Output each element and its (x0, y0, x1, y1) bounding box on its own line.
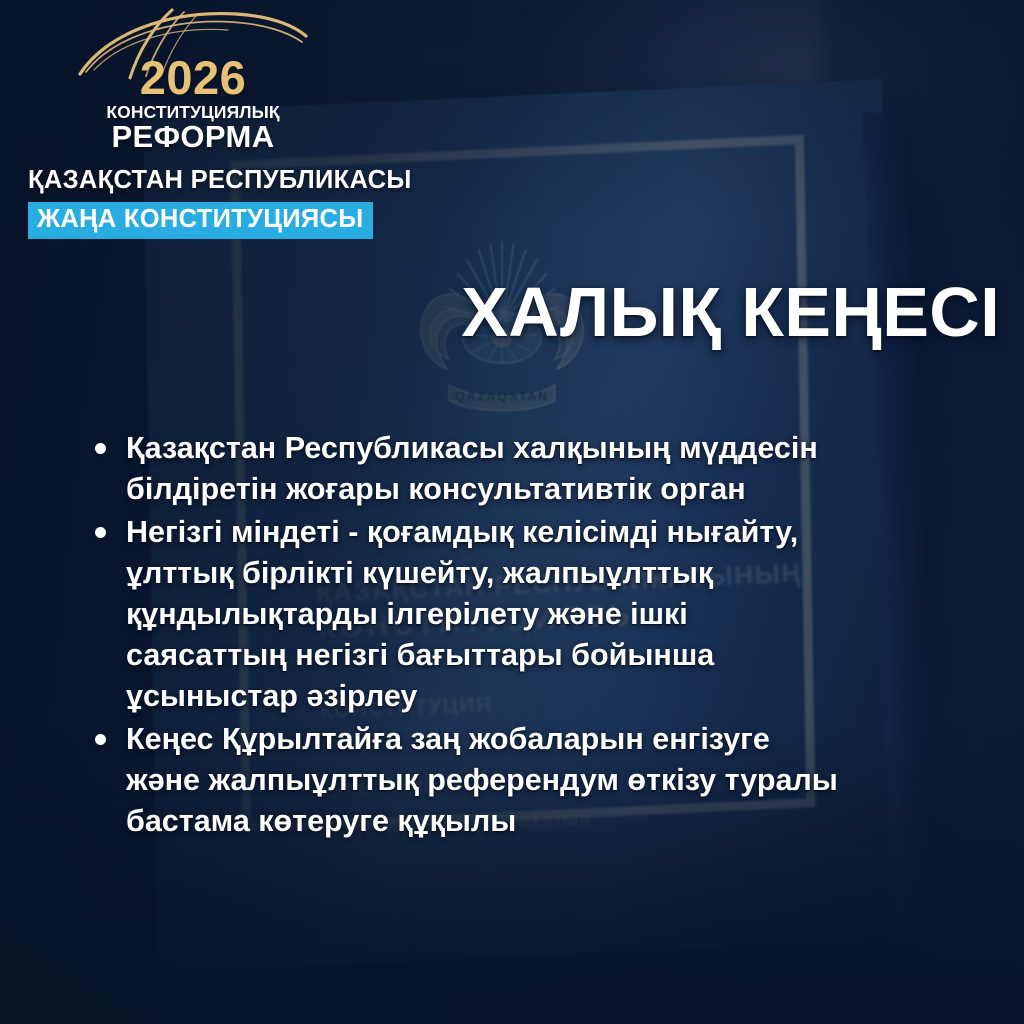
bullet-list: Қазақстан Республикасы халқының мүддесін… (84, 428, 844, 844)
list-item: Қазақстан Республикасы халқының мүддесін… (84, 428, 844, 510)
page-title: ХАЛЫҚ КЕҢЕСІ (461, 277, 1000, 347)
infographic-canvas: QAZAQSTAN ҚАЗАҚСТАН РЕСПУБЛИКАСЫНЫҢ КОНС… (0, 0, 1024, 1024)
list-item: Негізгі міндеті - қоғамдық келісімді нығ… (84, 512, 844, 717)
kicker-heading: ҚАЗАҚСТАН РЕСПУБЛИКАСЫ (28, 168, 412, 194)
kicker-heading-highlighted: ЖАҢА КОНСТИТУЦИЯСЫ (28, 202, 373, 239)
logo-year: 2026 (78, 54, 308, 101)
logo-subtitle-line2: РЕФОРМА (78, 121, 308, 152)
list-item: Кеңес Құрылтайға заң жобаларын енгізуге … (84, 719, 844, 842)
constitutional-reform-logo: 2026 КОНСТИТУЦИЯЛЫҚ РЕФОРМА (78, 8, 308, 150)
